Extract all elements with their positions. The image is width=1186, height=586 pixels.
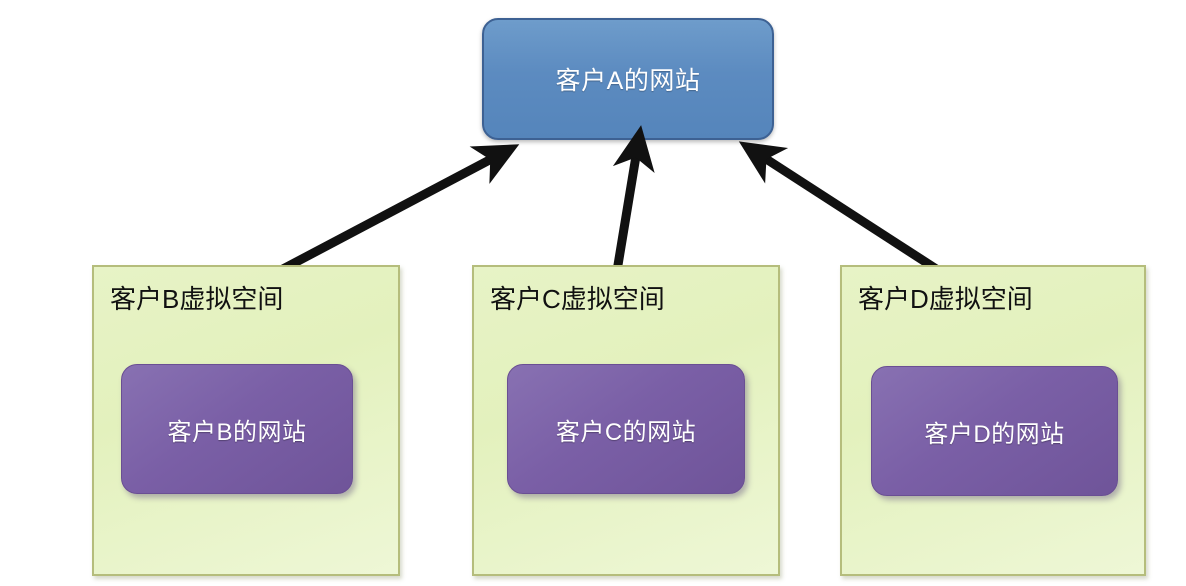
panel-customer-d-title: 客户D虚拟空间 [858, 279, 1033, 316]
diagram-canvas: 客户A的网站 客户B虚拟空间 客户B的网站 客户C虚拟空间 客户C的网站 客户D… [0, 0, 1186, 586]
node-customer-b-website-label: 客户B的网站 [167, 412, 306, 447]
panel-customer-c-title: 客户C虚拟空间 [490, 279, 665, 316]
arrow-b-to-a [264, 156, 497, 279]
panel-customer-b-title: 客户B虚拟空间 [110, 279, 283, 316]
node-customer-a-website[interactable]: 客户A的网站 [482, 18, 774, 140]
node-customer-a-website-label: 客户A的网站 [556, 61, 701, 97]
node-customer-d-website[interactable]: 客户D的网站 [871, 366, 1118, 496]
node-customer-c-website[interactable]: 客户C的网站 [507, 364, 745, 494]
arrow-c-to-a [617, 150, 637, 271]
arrow-d-to-a [760, 155, 944, 274]
node-customer-b-website[interactable]: 客户B的网站 [121, 364, 353, 494]
node-customer-d-website-label: 客户D的网站 [924, 414, 1064, 449]
node-customer-c-website-label: 客户C的网站 [556, 412, 696, 447]
